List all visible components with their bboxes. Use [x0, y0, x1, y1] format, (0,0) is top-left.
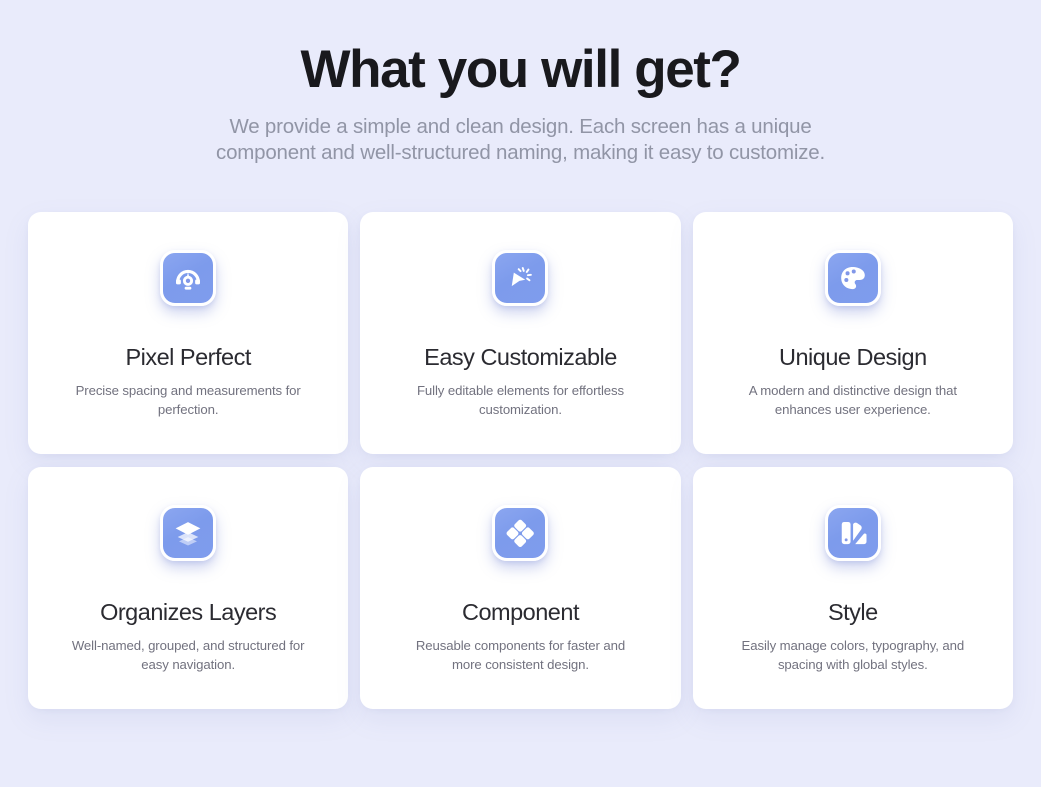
page-header: What you will get? We provide a simple a…: [0, 0, 1041, 166]
feature-card[interactable]: Organizes Layers Well-named, grouped, an…: [28, 467, 348, 709]
page-title: What you will get?: [0, 40, 1041, 100]
page-root: What you will get? We provide a simple a…: [0, 0, 1041, 787]
icon-tile: [825, 250, 881, 306]
feature-card[interactable]: Style Easily manage colors, typography, …: [693, 467, 1013, 709]
feature-card[interactable]: Pixel Perfect Precise spacing and measur…: [28, 212, 348, 454]
feature-card-title: Style: [828, 598, 878, 626]
feature-card-title: Pixel Perfect: [125, 343, 250, 371]
icon-tile: [492, 505, 548, 561]
page-subtitle: We provide a simple and clean design. Ea…: [211, 114, 831, 166]
stacked-layers-icon: [173, 518, 203, 548]
feature-card-description: Reusable components for faster and more …: [400, 637, 640, 674]
feature-card-description: Precise spacing and measurements for per…: [68, 382, 308, 419]
feature-card-description: Well-named, grouped, and structured for …: [68, 637, 308, 674]
feature-card-description: Fully editable elements for effortless c…: [400, 382, 640, 419]
color-swatch-fan-icon: [838, 518, 868, 548]
feature-card-title: Organizes Layers: [100, 598, 276, 626]
icon-tile: [492, 250, 548, 306]
feature-card-grid: Pixel Perfect Precise spacing and measur…: [28, 212, 1013, 709]
pixel-perfect-gauge-icon: [173, 263, 203, 293]
icon-tile: [825, 505, 881, 561]
icon-tile: [160, 250, 216, 306]
four-diamond-component-icon: [505, 518, 535, 548]
feature-card-description: Easily manage colors, typography, and sp…: [733, 637, 973, 674]
feature-card-title: Unique Design: [779, 343, 927, 371]
feature-card[interactable]: Component Reusable components for faster…: [360, 467, 680, 709]
cursor-click-icon: [505, 263, 535, 293]
feature-card-title: Component: [462, 598, 579, 626]
feature-card-title: Easy Customizable: [424, 343, 617, 371]
paint-palette-icon: [838, 263, 868, 293]
feature-card[interactable]: Unique Design A modern and distinctive d…: [693, 212, 1013, 454]
icon-tile: [160, 505, 216, 561]
feature-card-description: A modern and distinctive design that enh…: [733, 382, 973, 419]
feature-card[interactable]: Easy Customizable Fully editable element…: [360, 212, 680, 454]
